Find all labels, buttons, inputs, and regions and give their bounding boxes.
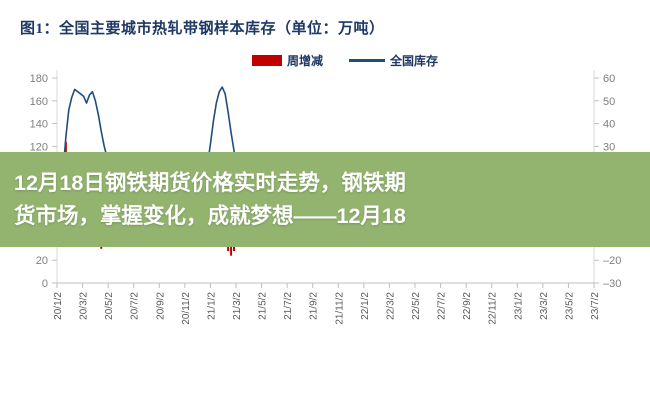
x-tick-label: 22/1/2 bbox=[360, 292, 371, 320]
x-tick-label: 22/11/2 bbox=[488, 292, 499, 325]
y-left-tick-label: 160 bbox=[30, 96, 48, 108]
overlay-headline-line1: 12月18日钢铁期货价格实时走势，钢铁期 bbox=[14, 167, 636, 200]
y-right-tick-label: 60 bbox=[603, 73, 615, 85]
chart-figure: 图1：全国主要城市热轧带钢样本库存（单位：万吨） 周增减 全国库存 020406… bbox=[0, 0, 650, 400]
x-tick-label: 23/1/2 bbox=[513, 292, 524, 320]
x-tick-label: 23/5/2 bbox=[564, 292, 575, 320]
x-tick-label: 21/9/2 bbox=[309, 292, 320, 320]
x-tick-label: 20/7/2 bbox=[130, 292, 141, 320]
x-tick-label: 22/9/2 bbox=[462, 292, 473, 320]
y-right-tick-label: –20 bbox=[603, 255, 621, 267]
x-tick-label: 21/7/2 bbox=[283, 292, 294, 320]
x-tick-label: 22/5/2 bbox=[411, 292, 422, 320]
x-tick-label: 20/11/2 bbox=[181, 292, 192, 325]
x-tick-label: 23/7/2 bbox=[590, 292, 601, 320]
x-tick-label: 21/1/2 bbox=[206, 292, 217, 320]
x-tick-label: 22/7/2 bbox=[437, 292, 448, 320]
y-right-tick-label: 50 bbox=[603, 96, 615, 108]
y-left-tick-label: 180 bbox=[30, 73, 48, 85]
x-tick-label: 20/3/2 bbox=[79, 292, 90, 320]
x-tick-label: 20/1/2 bbox=[53, 292, 64, 320]
x-tick-label: 23/3/2 bbox=[539, 292, 550, 320]
x-tick-label: 22/3/2 bbox=[385, 292, 396, 320]
x-tick-label: 20/5/2 bbox=[104, 292, 115, 320]
y-left-tick-label: 140 bbox=[30, 119, 48, 131]
y-left-tick-label: 0 bbox=[42, 278, 48, 290]
x-tick-label: 21/11/2 bbox=[334, 292, 345, 325]
overlay-headline: 12月18日钢铁期货价格实时走势，钢铁期 货市场，掌握变化，成就梦想——12月1… bbox=[0, 152, 650, 247]
overlay-headline-line2: 货市场，掌握变化，成就梦想——12月18 bbox=[14, 200, 636, 233]
x-tick-label: 21/5/2 bbox=[258, 292, 269, 320]
y-right-tick-label: –30 bbox=[603, 278, 621, 290]
x-tick-label: 21/3/2 bbox=[232, 292, 243, 320]
y-left-tick-label: 20 bbox=[36, 255, 48, 267]
y-right-tick-label: 40 bbox=[603, 119, 615, 131]
x-tick-label: 20/9/2 bbox=[155, 292, 166, 320]
